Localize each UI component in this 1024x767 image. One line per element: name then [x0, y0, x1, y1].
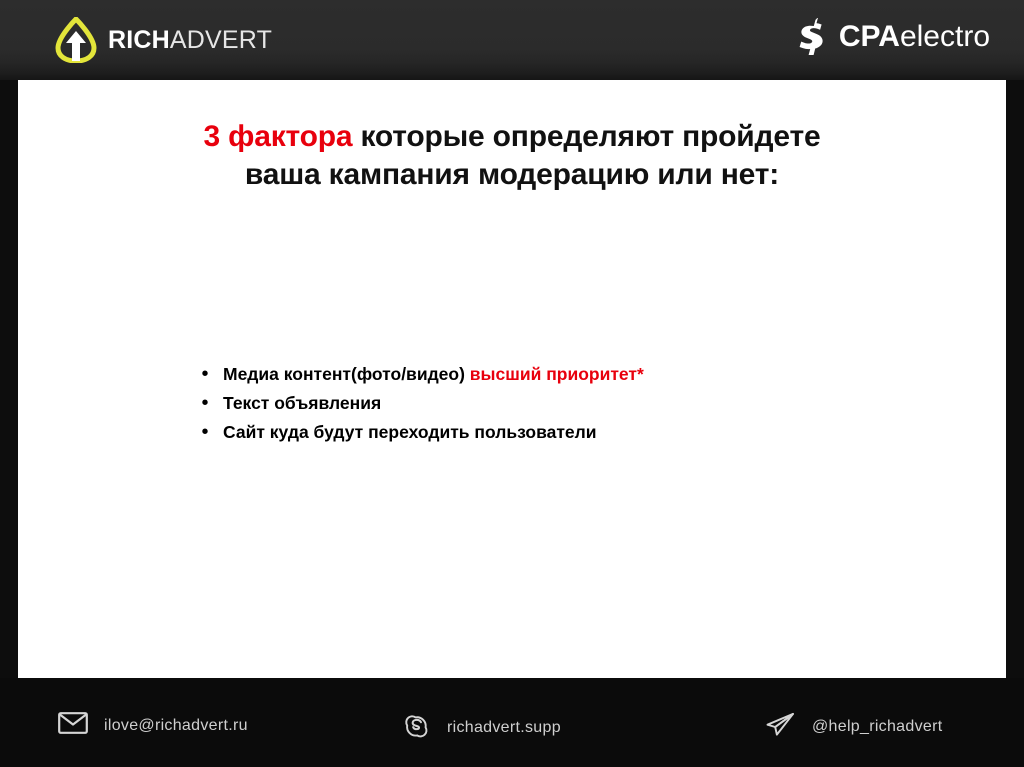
slide-header: RICHADVERT CPAelectro: [0, 0, 1024, 80]
list-item-text: Текст объявления: [223, 393, 381, 413]
slide-title-rest: которые определяют пройдете: [352, 120, 820, 153]
envelope-icon: [58, 712, 88, 739]
slide-title: 3 фактора которые определяют пройдете ва…: [18, 118, 1006, 194]
list-item: • Сайт куда будут переходить пользовател…: [200, 420, 960, 444]
cpaelectro-wordmark-light: electro: [900, 20, 990, 53]
list-item-label: Сайт куда будут переходить пользователи: [223, 420, 597, 444]
slide-title-line1: 3 фактора которые определяют пройдете: [204, 120, 821, 153]
bullet-marker-icon: •: [200, 362, 210, 386]
dollar-bolt-logo-icon: [796, 18, 826, 56]
cpaelectro-wordmark-bold: CPA: [839, 20, 900, 53]
list-item-label: Текст объявления: [223, 391, 381, 415]
contact-email-label: ilove@richadvert.ru: [104, 717, 248, 735]
list-item-accent: высший приоритет*: [470, 364, 644, 384]
cpaelectro-logo[interactable]: CPAelectro: [796, 18, 990, 56]
list-item: • Текст объявления: [200, 391, 960, 415]
presentation-slide: RICHADVERT CPAelectro 3 фактора которые …: [0, 0, 1024, 767]
spade-arrow-logo-icon: [55, 17, 97, 63]
contact-email[interactable]: ilove@richadvert.ru: [58, 712, 248, 739]
richadvert-logo[interactable]: RICHADVERT: [55, 17, 272, 63]
list-item: • Медиа контент(фото/видео) высший приор…: [200, 362, 960, 386]
bullet-marker-icon: •: [200, 420, 210, 444]
bullet-list: • Медиа контент(фото/видео) высший приор…: [200, 362, 960, 449]
list-item-label: Медиа контент(фото/видео) высший приорит…: [223, 362, 644, 386]
slide-content-panel: 3 фактора которые определяют пройдете ва…: [18, 80, 1006, 678]
contact-skype-label: richadvert.supp: [447, 719, 561, 737]
slide-title-line2: ваша кампания модерацию или нет:: [245, 158, 779, 191]
skype-icon: [404, 712, 431, 744]
richadvert-wordmark-light: ADVERT: [170, 26, 272, 54]
contact-telegram[interactable]: @help_richadvert: [765, 712, 942, 742]
cpaelectro-wordmark: CPAelectro: [839, 22, 990, 52]
telegram-icon: [765, 712, 796, 742]
contact-skype[interactable]: richadvert.supp: [404, 712, 561, 744]
list-item-text: Медиа контент(фото/видео): [223, 364, 470, 384]
richadvert-wordmark: RICHADVERT: [108, 28, 272, 53]
list-item-text: Сайт куда будут переходить пользователи: [223, 422, 597, 442]
bullet-marker-icon: •: [200, 391, 210, 415]
contact-telegram-label: @help_richadvert: [812, 718, 942, 736]
slide-title-accent: 3 фактора: [204, 120, 353, 153]
richadvert-wordmark-bold: RICH: [108, 26, 170, 54]
